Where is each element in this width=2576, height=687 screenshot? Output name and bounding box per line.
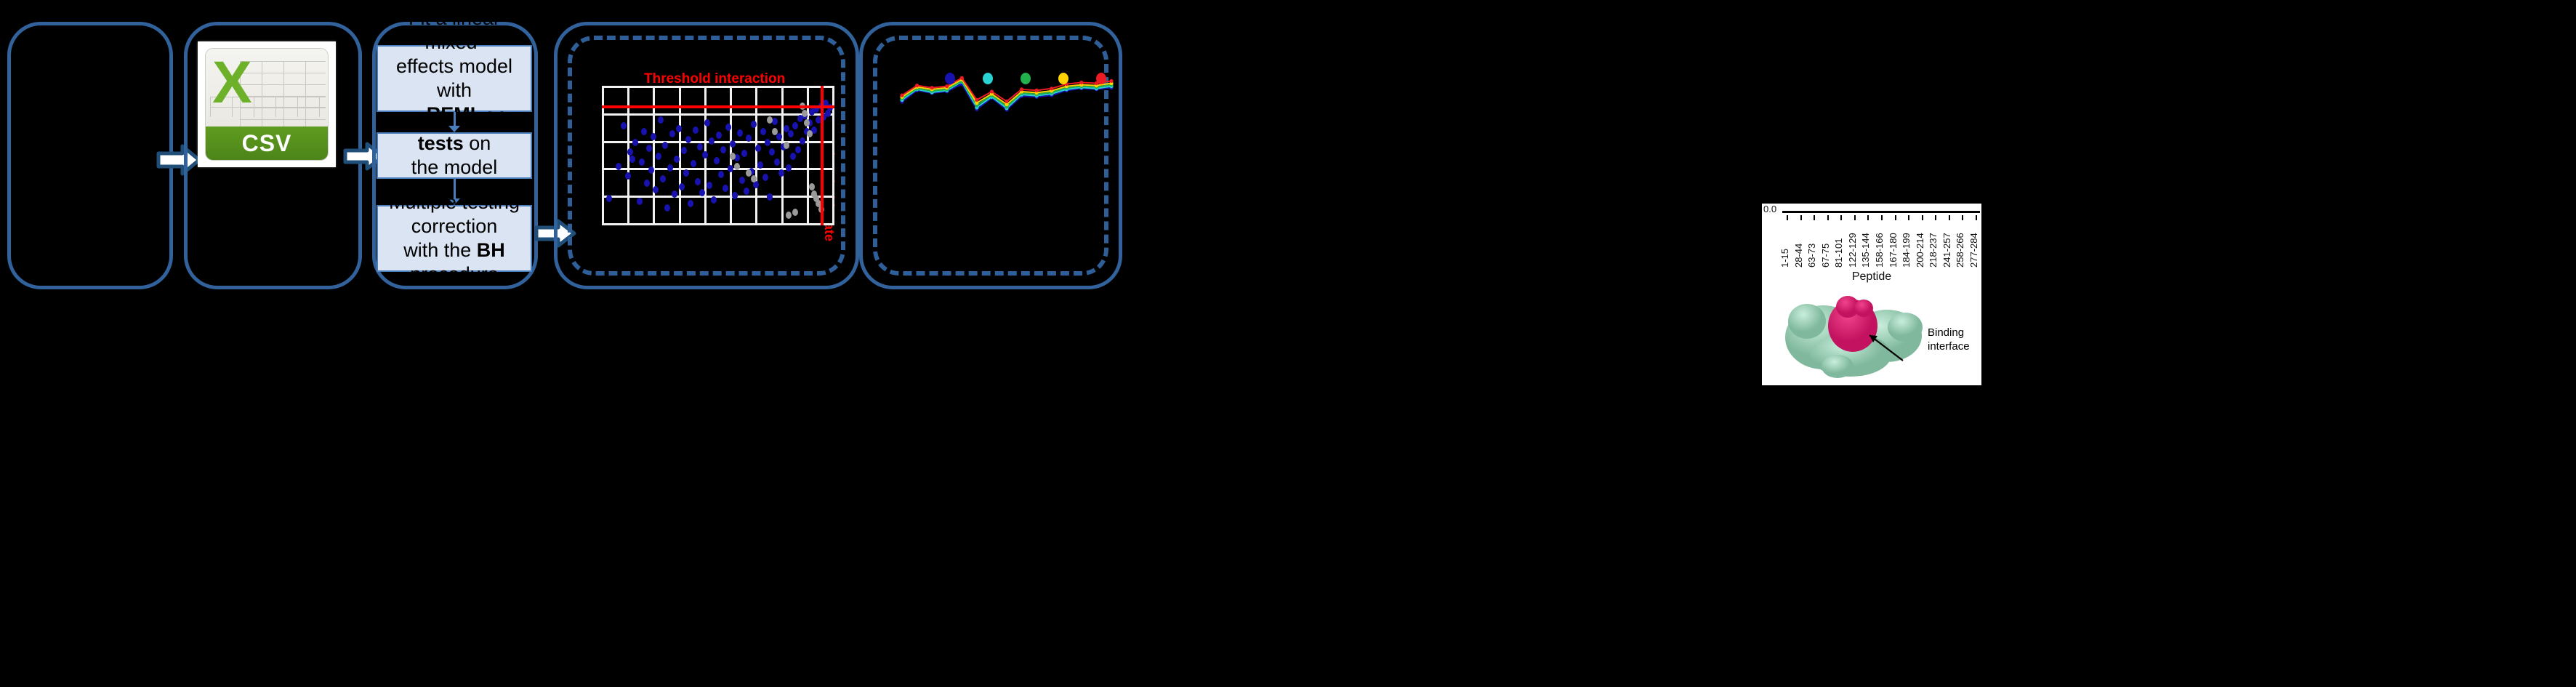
csv-icon-card: X CSV	[205, 48, 329, 161]
scatter-point	[767, 193, 773, 201]
peptide-tick-label: 200-214	[1915, 233, 1925, 268]
scatter-point	[681, 147, 687, 154]
scatter-point	[792, 209, 798, 216]
scatter-point	[693, 126, 699, 134]
scatter-point	[800, 137, 805, 145]
scatter-point	[683, 169, 689, 177]
diagram-canvas: X CSV Fit a linear mixed-effects model w…	[0, 0, 2576, 687]
legend-dot	[945, 73, 955, 84]
scatter-point	[737, 129, 743, 137]
csv-grid-upper	[240, 61, 326, 130]
peptide-tick-label: 184-199	[1901, 233, 1912, 268]
peptide-tick-mark	[1949, 215, 1950, 220]
peptide-tick-mark	[1922, 215, 1923, 220]
scatter-point	[774, 158, 780, 166]
step-multiple-testing[interactable]: Multiple testingcorrectionwith the BH pr…	[377, 205, 532, 272]
scatter-point	[662, 142, 668, 149]
scatter-point	[625, 172, 631, 180]
scatter-point	[802, 110, 808, 117]
scatter-point	[788, 130, 794, 137]
peptide-tick-label: 122-129	[1847, 233, 1858, 268]
peptide-tick-mark	[1840, 215, 1842, 220]
peptide-tick-mark	[1827, 215, 1829, 220]
csv-extension-band: CSV	[206, 126, 328, 160]
step-fit-model[interactable]: Fit a linear mixed-effects model withREM…	[377, 45, 532, 112]
scatter-point	[704, 119, 710, 126]
scatter-gridline-h	[602, 86, 834, 88]
scatter-point	[707, 182, 712, 189]
scatter-point	[741, 150, 747, 157]
scatter-point	[739, 177, 745, 184]
scatter-point	[621, 122, 627, 129]
scatter-gridline-h	[602, 168, 834, 170]
scatter-point	[679, 183, 685, 190]
scatter-point	[723, 185, 728, 192]
scatter-point	[765, 139, 770, 146]
scatter-point	[786, 212, 792, 219]
peptide-legend	[945, 73, 1112, 84]
scatter-point	[606, 195, 612, 202]
scatter-point	[627, 148, 633, 156]
legend-dot	[1058, 73, 1068, 84]
peptide-tick-label: 218-237	[1928, 233, 1939, 268]
peptide-tick-label: 277-284	[1968, 233, 1979, 268]
threshold-line-interaction	[602, 105, 834, 108]
scatter-point	[772, 128, 778, 135]
peptide-tick-mark	[1935, 215, 1936, 220]
peptide-y-tick: 0.0	[1763, 204, 1776, 214]
scatter-point	[778, 169, 784, 177]
scatter-point	[760, 128, 766, 135]
scatter-point	[790, 153, 796, 160]
threshold-line-state	[821, 86, 824, 225]
scatter-point	[728, 165, 733, 172]
peptide-tick-label: 258-266	[1955, 233, 1965, 268]
scatter-point	[732, 192, 738, 199]
peptide-tick-label: 158-166	[1874, 233, 1885, 268]
peptide-series-marker	[1020, 87, 1023, 91]
peptide-card-wrapper: 0.0 1-1528-4463-7367-7581-101122-129135-…	[881, 102, 1100, 284]
peptide-tick-mark	[1895, 215, 1896, 220]
scatter-point	[720, 146, 726, 153]
scatter-point	[809, 183, 815, 190]
peptide-tick-label: 28-44	[1793, 244, 1804, 268]
peptide-tick-labels: 1-1528-4463-7367-7581-101122-129135-1441…	[1782, 215, 1981, 268]
legend-dot	[1021, 73, 1031, 84]
ligand-surface	[1828, 296, 1877, 352]
legend-dot	[983, 73, 993, 84]
peptide-tick-label: 1-15	[1779, 249, 1790, 268]
legend-dot	[1096, 73, 1106, 84]
step-multiple-testing-text: Multiple testingcorrectionwith the BH pr…	[382, 190, 526, 286]
panel-input	[7, 22, 173, 289]
scatter-point	[784, 142, 789, 149]
peptide-tick-label: 135-144	[1860, 233, 1871, 268]
scatter-point	[714, 157, 720, 164]
scatter-point	[672, 190, 677, 198]
scatter-point	[792, 122, 798, 129]
scatter-plot	[602, 86, 834, 225]
peptide-tick-mark	[1787, 215, 1788, 220]
scatter-point	[656, 153, 661, 160]
peptide-x-axis	[1782, 211, 1980, 213]
scatter-point	[702, 151, 708, 158]
scatter-point	[641, 128, 647, 135]
scatter-point	[795, 146, 801, 153]
csv-file-icon: X CSV	[198, 41, 336, 167]
peptide-tick-mark	[1962, 215, 1963, 220]
scatter-point	[629, 156, 635, 163]
scatter-gridline-h	[602, 223, 834, 225]
scatter-gridline-h	[602, 196, 834, 198]
peptide-series-marker	[930, 86, 934, 89]
scatter-point	[718, 171, 724, 178]
peptide-series-marker	[915, 84, 919, 87]
scatter-point	[669, 130, 675, 137]
peptide-series-marker	[945, 84, 949, 88]
scatter-point	[651, 133, 656, 140]
peptide-series-marker	[990, 89, 994, 93]
scatter-point	[807, 130, 813, 137]
scatter-point	[664, 204, 670, 212]
peptide-x-axis-label: Peptide	[1762, 270, 1981, 284]
scatter-point	[632, 139, 638, 146]
peptide-tick-mark	[1976, 215, 1977, 220]
scatter-point	[646, 145, 652, 152]
scatter-point	[697, 143, 703, 150]
peptide-tick-label: 67-75	[1820, 244, 1831, 268]
peptide-tick-mark	[1881, 215, 1883, 220]
peptide-tick-label: 81-101	[1833, 238, 1844, 268]
peptide-tick-mark	[1867, 215, 1869, 220]
scatter-point	[660, 175, 666, 182]
peptide-tick-mark	[1800, 215, 1802, 220]
scatter-point	[730, 140, 736, 148]
scatter-point	[751, 175, 757, 182]
scatter-point	[762, 174, 768, 181]
scatter-point	[744, 188, 749, 195]
threshold-interaction-label: Threshold interaction	[644, 71, 785, 87]
scatter-point	[755, 145, 761, 152]
scatter-point	[667, 164, 673, 172]
step-wald-tests[interactable]: Apply Wald tests onthe model parameters	[377, 132, 532, 179]
scatter-point	[716, 132, 722, 139]
scatter-point	[751, 121, 757, 128]
peptide-series-marker	[1050, 87, 1053, 90]
scatter-point	[637, 198, 643, 205]
scatter-point	[691, 160, 696, 167]
binding-interface-label: Binding interface	[1928, 326, 1980, 353]
scatter-point	[639, 158, 645, 166]
scatter-point	[786, 164, 792, 172]
scatter-point	[653, 186, 659, 193]
peptide-tick-mark	[1908, 215, 1909, 220]
peptide-card: 0.0 1-1528-4463-7367-7581-101122-129135-…	[1762, 204, 1981, 385]
peptide-series-marker	[900, 94, 903, 97]
scatter-point	[757, 161, 763, 169]
peptide-tick-label: 241-257	[1941, 233, 1952, 268]
scatter-point	[658, 116, 664, 124]
peptide-tick-mark	[1814, 215, 1815, 220]
peptide-series-marker	[1035, 89, 1039, 92]
scatter-point	[711, 196, 717, 204]
scatter-point	[676, 125, 682, 132]
scatter-point	[725, 124, 731, 131]
scatter-point	[616, 163, 621, 170]
scatter-point	[709, 137, 715, 145]
peptide-tick-mark	[1854, 215, 1856, 220]
scatter-point	[688, 200, 693, 207]
scatter-point	[644, 180, 650, 187]
scatter-point	[695, 178, 701, 185]
protein-structure-image	[1778, 285, 1931, 379]
peptide-tick-label: 167-180	[1888, 233, 1899, 268]
peptide-tick-label: 63-73	[1806, 244, 1817, 268]
scatter-point	[769, 148, 775, 156]
excel-x-glyph: X	[212, 60, 252, 106]
